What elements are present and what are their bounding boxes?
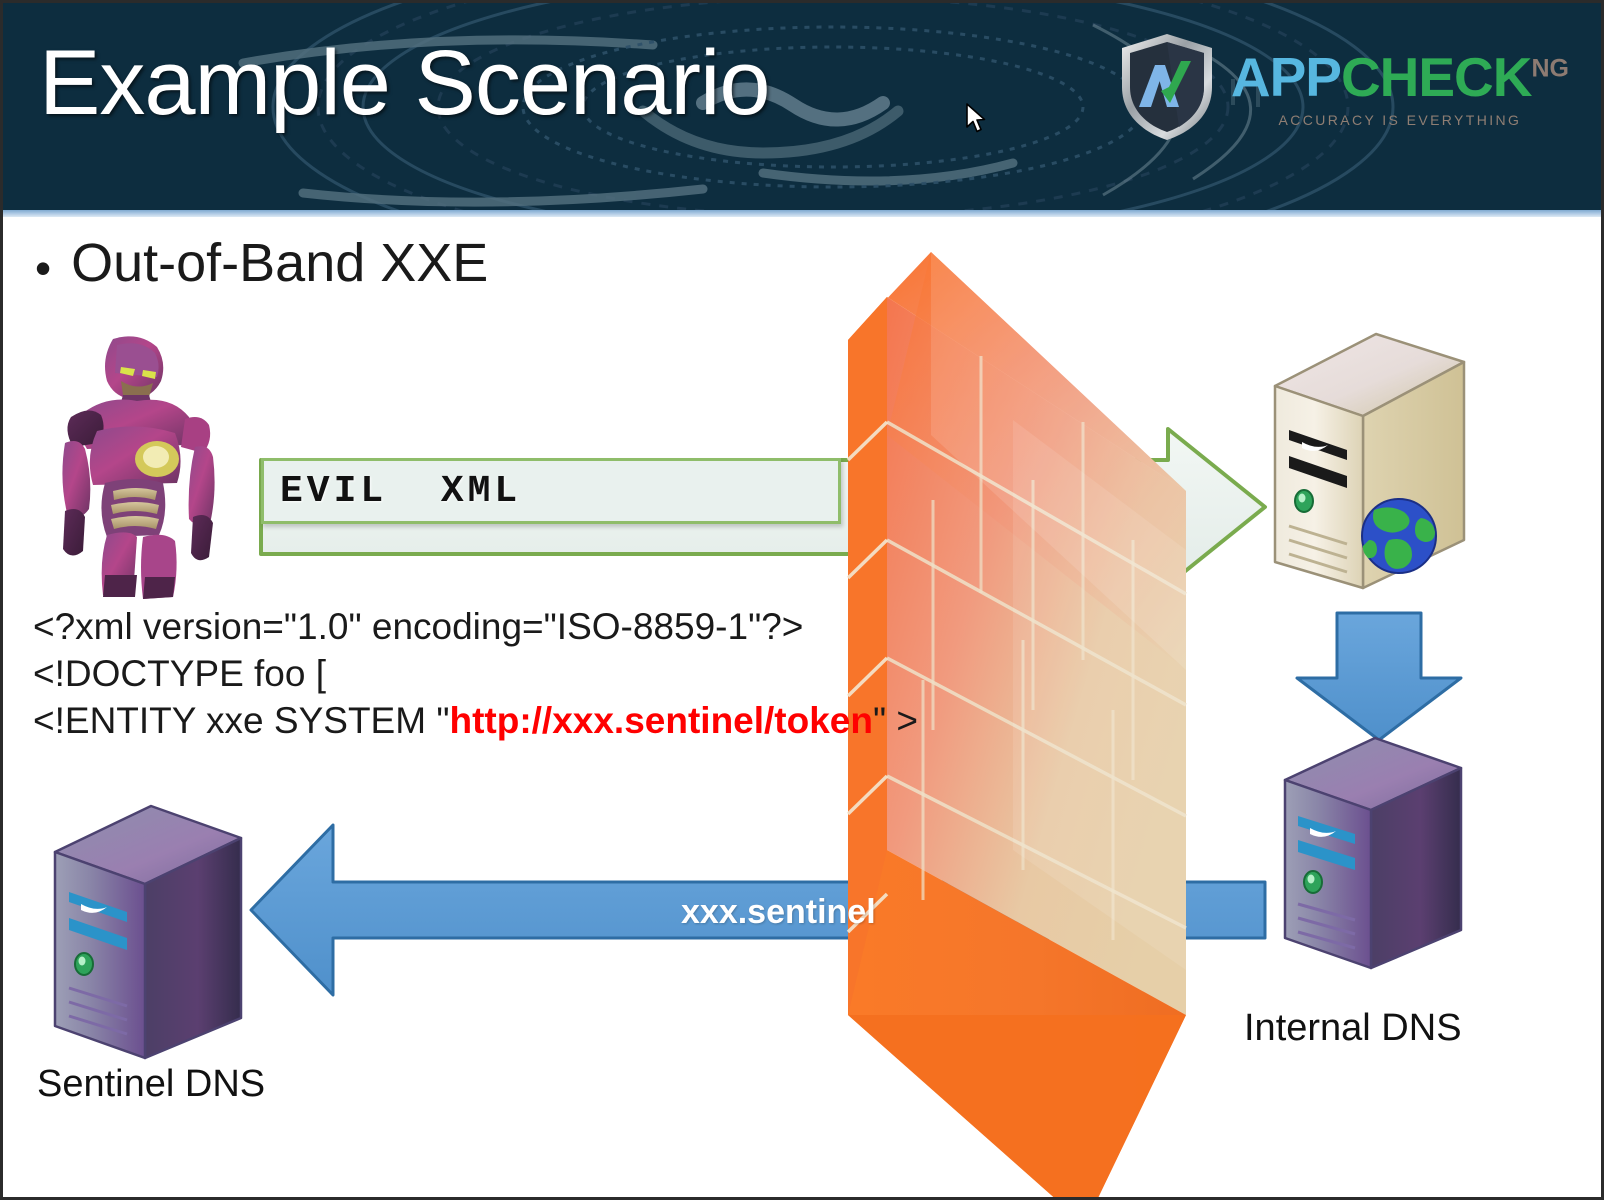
logo-check-text: CHECK (1341, 46, 1532, 108)
villain-robot-icon (35, 331, 233, 599)
logo-tagline: ACCURACY IS EVERYTHING (1231, 112, 1569, 128)
xml-line-2: <!DOCTYPE foo [ (33, 650, 918, 697)
blue-down-arrow-icon (1297, 613, 1461, 740)
xml-code-block: <?xml version="1.0" encoding="ISO-8859-1… (33, 603, 918, 744)
internal-dns-label: Internal DNS (1244, 1007, 1462, 1050)
xml-line-1: <?xml version="1.0" encoding="ISO-8859-1… (33, 603, 918, 650)
xml-line-3: <!ENTITY xxe SYSTEM "http://xxx.sentinel… (33, 697, 918, 744)
xml-entity-url: http://xxx.sentinel/token (449, 700, 873, 741)
logo-wordmark: APPCHECKNG (1231, 50, 1569, 105)
evil-xml-label: EVIL XML (280, 470, 521, 513)
xml-line-3-suffix: " > (873, 700, 918, 741)
evil-xml-box: EVIL XML (261, 458, 841, 524)
arrow-label-xxx-sentinel: xxx.sentinel (681, 893, 876, 932)
logo-ng-text: NG (1532, 55, 1570, 83)
sentinel-dns-label: Sentinel DNS (37, 1063, 265, 1106)
dns-server-icon-internal (1285, 738, 1461, 968)
globe-icon (1362, 499, 1436, 573)
shield-icon (1117, 31, 1217, 143)
page-title: Example Scenario (39, 33, 770, 134)
dns-server-icon-sentinel (55, 806, 241, 1058)
web-server-icon (1275, 334, 1464, 588)
presentation-slide: Example Scenario (0, 0, 1604, 1200)
slide-header: Example Scenario (3, 3, 1604, 210)
xml-line-3-prefix: <!ENTITY xxe SYSTEM " (33, 700, 449, 741)
appcheck-logo: APPCHECKNG ACCURACY IS EVERYTHING (1117, 29, 1569, 145)
logo-app-text: APP (1231, 46, 1341, 108)
